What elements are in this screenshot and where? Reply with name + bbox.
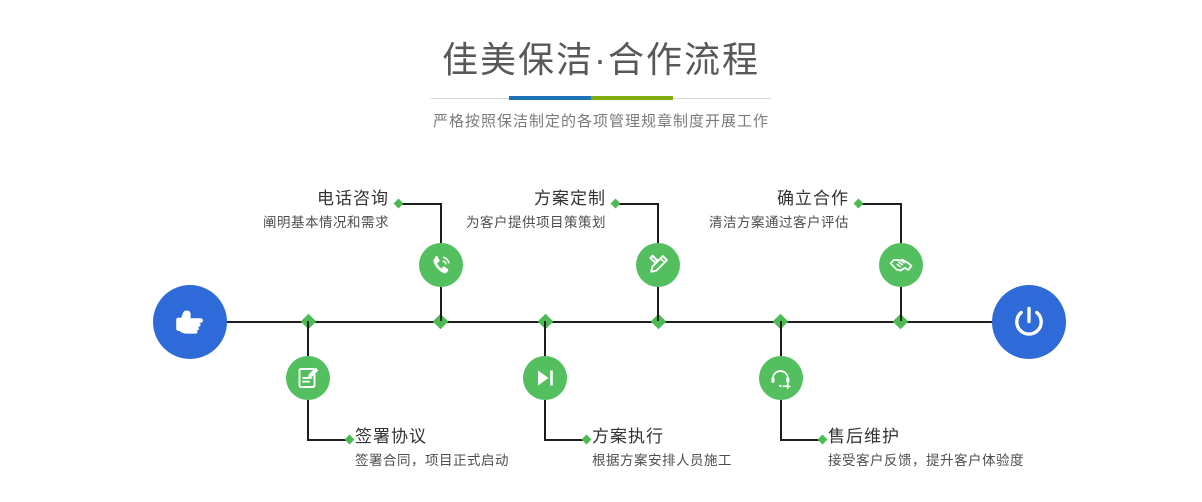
- pointing-hand-icon: [170, 302, 210, 342]
- timeline-start-endpoint: [153, 285, 227, 359]
- connector-step-6-horizontal: [780, 439, 822, 441]
- divider-segment-blue: [509, 96, 591, 100]
- title-divider: [431, 98, 771, 99]
- phone-call-icon: [428, 252, 454, 278]
- step-desc-2: 签署合同，项目正式启动: [355, 451, 509, 471]
- step-icon-bubble-1: [419, 243, 463, 287]
- connector-step-1-vertical-top: [440, 203, 442, 245]
- step-title-4: 方案执行: [592, 426, 732, 448]
- step-label-2: 签署协议 签署合同，项目正式启动: [355, 426, 509, 471]
- header: 佳美保洁·合作流程 严格按照保洁制定的各项管理规章制度开展工作: [0, 0, 1202, 133]
- step-label-5: 确立合作 清洁方案通过客户评估: [709, 188, 849, 233]
- step-title-5: 确立合作: [709, 188, 849, 210]
- label-marker-step-4: [582, 435, 592, 445]
- connector-step-2-vertical-top: [307, 321, 309, 356]
- label-marker-step-6: [818, 435, 828, 445]
- step-icon-bubble-2: [286, 356, 330, 400]
- page-title: 佳美保洁·合作流程: [0, 0, 1202, 84]
- step-label-4: 方案执行 根据方案安排人员施工: [592, 426, 732, 471]
- connector-step-5-horizontal: [859, 203, 901, 205]
- connector-step-5-vertical-top: [900, 203, 902, 245]
- connector-step-3-horizontal: [616, 203, 658, 205]
- step-label-6: 售后维护 接受客户反馈，提升客户体验度: [828, 426, 1024, 471]
- page-subtitle: 严格按照保洁制定的各项管理规章制度开展工作: [0, 99, 1202, 133]
- document-edit-icon: [295, 365, 321, 391]
- headset-support-icon: [768, 365, 794, 391]
- connector-step-5-vertical-bottom: [900, 287, 902, 321]
- connector-step-3-vertical-top: [657, 203, 659, 245]
- label-marker-step-2: [345, 435, 355, 445]
- handshake-icon: [888, 252, 914, 278]
- step-icon-bubble-4: [523, 356, 567, 400]
- timeline-end-endpoint: [992, 285, 1066, 359]
- divider-segment-green: [591, 96, 673, 100]
- step-label-3: 方案定制 为客户提供项目策策划: [466, 188, 606, 233]
- step-icon-bubble-3: [636, 243, 680, 287]
- connector-step-6-vertical-bottom: [780, 400, 782, 440]
- connector-step-6-vertical-top: [780, 321, 782, 356]
- label-marker-step-3: [611, 199, 621, 209]
- step-desc-5: 清洁方案通过客户评估: [709, 213, 849, 233]
- play-skip-icon: [532, 365, 558, 391]
- step-desc-6: 接受客户反馈，提升客户体验度: [828, 451, 1024, 471]
- connector-step-2-horizontal: [307, 439, 349, 441]
- label-marker-step-1: [394, 199, 404, 209]
- connector-step-4-vertical-bottom: [544, 400, 546, 440]
- step-title-3: 方案定制: [466, 188, 606, 210]
- process-flow-infographic: 佳美保洁·合作流程 严格按照保洁制定的各项管理规章制度开展工作: [0, 0, 1202, 502]
- power-icon: [1008, 301, 1050, 343]
- connector-step-3-vertical-bottom: [657, 287, 659, 321]
- connector-step-4-vertical-top: [544, 321, 546, 356]
- connector-step-1-horizontal: [399, 203, 441, 205]
- label-marker-step-5: [854, 199, 864, 209]
- step-title-6: 售后维护: [828, 426, 1024, 448]
- step-desc-4: 根据方案安排人员施工: [592, 451, 732, 471]
- step-desc-1: 阐明基本情况和需求: [263, 213, 389, 233]
- connector-step-1-vertical-bottom: [440, 287, 442, 321]
- step-icon-bubble-5: [879, 243, 923, 287]
- step-title-1: 电话咨询: [263, 188, 389, 210]
- pencil-ruler-icon: [645, 252, 671, 278]
- step-icon-bubble-6: [759, 356, 803, 400]
- step-desc-3: 为客户提供项目策策划: [466, 213, 606, 233]
- step-label-1: 电话咨询 阐明基本情况和需求: [263, 188, 389, 233]
- connector-step-4-horizontal: [544, 439, 586, 441]
- connector-step-2-vertical-bottom: [307, 400, 309, 440]
- step-title-2: 签署协议: [355, 426, 509, 448]
